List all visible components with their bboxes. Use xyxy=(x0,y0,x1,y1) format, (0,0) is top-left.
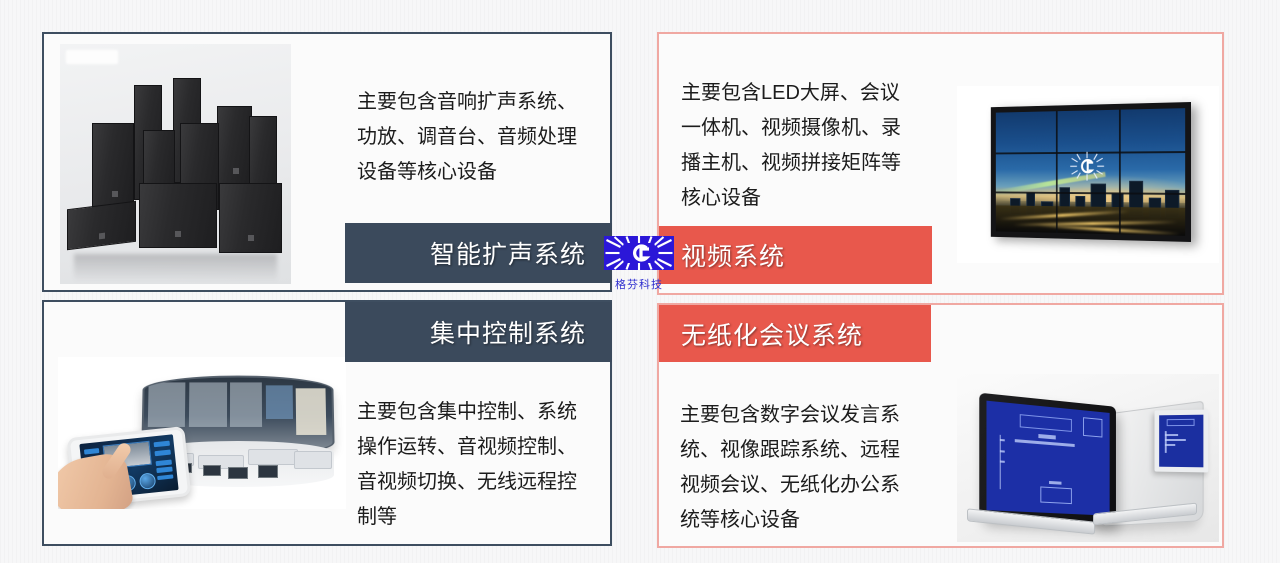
screen-logo-badge xyxy=(1083,418,1103,438)
screen-line xyxy=(1049,481,1061,485)
screen-line xyxy=(1165,431,1167,454)
label-text: 集中控制系统 xyxy=(430,314,586,350)
speaker-box xyxy=(217,106,252,188)
description-intelligent-sound-reinforcement: 主要包含音响扩声系统、功放、调音台、音频处理设备等核心设备 xyxy=(357,85,592,190)
desk-monitor xyxy=(228,467,248,479)
wall-tile xyxy=(266,385,293,419)
floor-reflection xyxy=(74,254,277,282)
screen-title-box xyxy=(1167,419,1194,427)
conference-terminal-front-unit xyxy=(979,393,1116,523)
label-text: 无纸化会议系统 xyxy=(681,316,863,352)
subwoofer-box xyxy=(219,183,281,253)
wall-tile xyxy=(296,388,327,434)
speaker-box xyxy=(92,123,134,212)
tablet-button[interactable] xyxy=(156,460,172,466)
wall-tile xyxy=(148,382,186,427)
label-text: 智能扩声系统 xyxy=(430,235,586,271)
tablet-button[interactable] xyxy=(84,448,99,455)
tablet-button[interactable] xyxy=(155,449,171,456)
brand-wordmark: 格芬科技 xyxy=(601,276,677,292)
description-paperless-conference-system: 主要包含数字会议发言系统、视像跟踪系统、远程视频会议、无纸化办公系统等核心设备 xyxy=(680,398,915,538)
label-text: 视频系统 xyxy=(681,237,785,273)
tablet-button[interactable] xyxy=(157,467,173,473)
screen-title-box xyxy=(1020,414,1072,433)
floor-monitor-box xyxy=(67,201,136,250)
tablet-button[interactable] xyxy=(154,440,170,447)
screen-line xyxy=(1039,434,1056,439)
video-wall-bezel xyxy=(991,102,1191,242)
desk-monitor xyxy=(258,465,278,478)
desk-monitor xyxy=(203,465,221,476)
label-bar-intelligent-sound-reinforcement[interactable]: 智能扩声系统 xyxy=(345,223,612,283)
photo-highlight xyxy=(66,50,118,64)
console-desk xyxy=(248,449,298,465)
description-centralized-control-system: 主要包含集中控制、系统操作运转、音视频控制、音视频切换、无线远程控制等 xyxy=(357,395,592,535)
screen-line xyxy=(1165,434,1178,436)
description-video-system: 主要包含LED大屏、会议一体机、视频摄像机、录播主机、视频拼接矩阵等核心设备 xyxy=(681,76,911,216)
label-bar-centralized-control-system[interactable]: 集中控制系统 xyxy=(345,302,612,362)
tablet-knob[interactable] xyxy=(139,472,157,490)
speaker-cabinets-photo xyxy=(60,44,291,284)
video-wall-screen xyxy=(996,108,1185,236)
gf-starburst-logo-icon xyxy=(601,228,677,278)
control-room-tablet-photo xyxy=(58,357,346,509)
label-bar-paperless-conference-system[interactable]: 无纸化会议系统 xyxy=(659,305,931,362)
systems-overview-board: 主要包含音响扩声系统、功放、调音台、音频处理设备等核心设备 智能扩声系统 主要包… xyxy=(0,0,1280,563)
console-desk xyxy=(294,451,332,469)
wall-tile xyxy=(230,382,262,427)
screen-logo-box xyxy=(1040,486,1072,505)
screen-line xyxy=(1000,435,1001,489)
video-wall-photo-backdrop xyxy=(957,86,1219,263)
control-room-photo-backdrop xyxy=(58,357,346,509)
led-video-wall-photo xyxy=(957,86,1219,263)
subwoofer-box xyxy=(139,183,218,248)
wall-tile xyxy=(189,382,227,427)
panel-seam xyxy=(1119,110,1121,235)
gf-starburst-logo-icon xyxy=(1066,148,1107,183)
panel-seam xyxy=(1056,111,1058,233)
paperless-conference-terminals-photo xyxy=(957,374,1219,542)
brand-watermark: 格芬科技 xyxy=(601,228,677,300)
rear-terminal-screen xyxy=(1154,410,1208,473)
label-bar-video-system[interactable]: 视频系统 xyxy=(659,226,932,284)
front-terminal-screen xyxy=(986,401,1109,516)
screen-line xyxy=(1165,439,1185,441)
terminal-photo-backdrop xyxy=(957,374,1219,542)
screen-line xyxy=(1015,439,1074,447)
tablet-button[interactable] xyxy=(157,474,173,480)
speaker-photo-backdrop xyxy=(60,44,291,284)
